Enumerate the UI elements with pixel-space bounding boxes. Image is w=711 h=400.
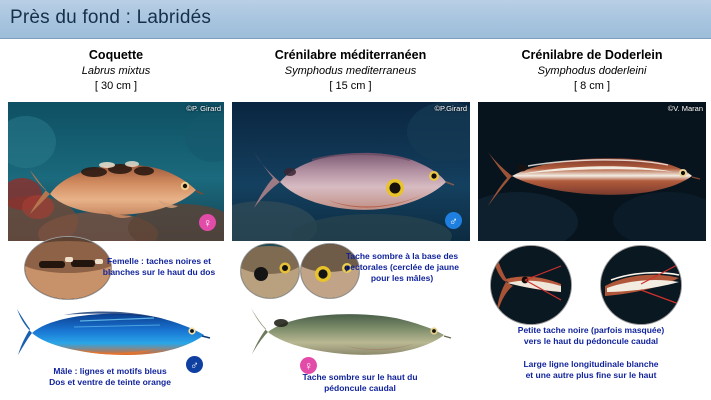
caption-line-1: Tache sombre à la base des (346, 251, 458, 261)
photo-coquette-male (14, 305, 214, 359)
size-label: [ 15 cm ] (233, 79, 468, 93)
photo-artwork (232, 102, 470, 241)
caption-line-3: pour les mâles) (371, 273, 433, 283)
photo-credit: ©P.Girard (435, 104, 467, 113)
inset-artwork (601, 246, 681, 324)
scientific-name: Symphodus mediterraneus (233, 64, 468, 78)
photo-credit: ©V. Maran (668, 104, 703, 113)
caption-line-2: et une autre plus fine sur le haut (526, 370, 657, 380)
female-symbol-badge: ♀ (199, 214, 216, 231)
caption-line-1: Large ligne longitudinale blanche (523, 359, 658, 369)
inset-artwork (491, 246, 571, 324)
scientific-name: Labrus mixtus (8, 64, 224, 78)
inset-artwork (241, 244, 299, 298)
photo-credit: ©P. Girard (186, 104, 221, 113)
caption-line-1: Femelle : taches noires et blanches sur … (103, 256, 215, 277)
caption-doderlein-line: Large ligne longitudinale blanche et une… (484, 359, 698, 381)
photo-crenilabre-mediterraneen-male: ©P.Girard ♂ (232, 102, 470, 241)
page-title: Près du fond : Labridés (10, 7, 211, 29)
photo-crenilabre-mediterraneen-female (248, 305, 454, 357)
common-name: Crénilabre méditerranéen (233, 48, 468, 63)
caption-line-1: Petite tache noire (parfois masquée) (518, 325, 664, 335)
male-symbol-badge: ♂ (186, 356, 203, 373)
photo-crenilabre-doderlein: ©V. Maran (478, 102, 706, 241)
caption-peduncle-spot: Tache sombre sur le haut du pédoncule ca… (268, 372, 452, 394)
inset-doderlein-lateral-line (600, 245, 682, 325)
female-symbol-badge: ♀ (300, 357, 317, 374)
inset-doderlein-peduncle (490, 245, 572, 325)
column-heading-coquette: Coquette Labrus mixtus [ 30 cm ] (8, 48, 224, 93)
photo-artwork (14, 305, 214, 359)
column-heading-crenilabre-mediterraneen: Crénilabre méditerranéen Symphodus medit… (233, 48, 468, 93)
caption-coquette-male: Mâle : lignes et motifs bleus Dos et ven… (10, 366, 210, 388)
scientific-name: Symphodus doderleini (478, 64, 706, 78)
photo-artwork (478, 102, 706, 241)
caption-doderlein-spot: Petite tache noire (parfois masquée) ver… (484, 325, 698, 347)
caption-line-1: Mâle : lignes et motifs bleus (53, 366, 166, 376)
common-name: Crénilabre de Doderlein (478, 48, 706, 63)
caption-line-2: Dos et ventre de teinte orange (49, 377, 171, 387)
photo-artwork (248, 305, 454, 357)
caption-pectoral-spot: Tache sombre à la base des pectorales (c… (332, 251, 472, 284)
male-symbol-badge: ♂ (445, 212, 462, 229)
poster-page: Près du fond : Labridés Coquette Labrus … (0, 0, 711, 400)
caption-line-2: pectorales (cerclée de jaune (345, 262, 459, 272)
caption-line-2: pédoncule caudal (324, 383, 396, 393)
size-label: [ 30 cm ] (8, 79, 224, 93)
common-name: Coquette (8, 48, 224, 63)
column-heading-crenilabre-doderlein: Crénilabre de Doderlein Symphodus doderl… (478, 48, 706, 93)
photo-artwork (8, 102, 224, 241)
size-label: [ 8 cm ] (478, 79, 706, 93)
caption-line-1: Tache sombre sur le haut du (302, 372, 417, 382)
inset-pectoral-spot-female (240, 243, 300, 299)
photo-coquette-female: ©P. Girard ♀ (8, 102, 224, 241)
caption-coquette-female: Femelle : taches noires et blanches sur … (96, 256, 222, 278)
caption-line-2: vers le haut du pédoncule caudal (524, 336, 658, 346)
page-header: Près du fond : Labridés (0, 0, 711, 39)
